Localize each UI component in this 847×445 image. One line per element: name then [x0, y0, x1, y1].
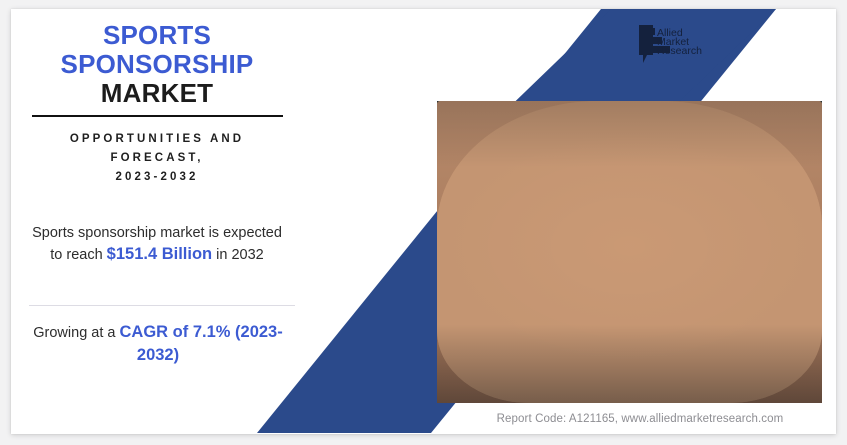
photo-color-grade [437, 101, 822, 403]
subtitle-line-1: OPPORTUNITIES AND [11, 130, 303, 149]
left-text-column: SPORTS SPONSORSHIP MARKET OPPORTUNITIES … [11, 9, 311, 434]
stat-divider [29, 305, 295, 306]
logo-line-3: Research [657, 45, 702, 57]
cagr-highlight-value: CAGR of 7.1% (2023-2032) [120, 323, 283, 364]
title-divider [32, 115, 283, 117]
infographic-page: Allied Market Research SPORTS SPONSORSHI… [0, 0, 847, 445]
page-title: SPORTS SPONSORSHIP MARKET [11, 21, 303, 108]
title-line-2: SPONSORSHIP [11, 50, 303, 79]
stadium-crowd-photo [437, 101, 822, 403]
stat-highlight-value: $151.4 Billion [107, 245, 212, 263]
subtitle-line-2: FORECAST, [11, 149, 303, 168]
market-value-statement: Sports sponsorship market is expected to… [29, 223, 285, 266]
cagr-statement: Growing at a CAGR of 7.1% (2023-2032) [25, 321, 291, 367]
title-line-1: SPORTS [11, 21, 303, 50]
subtitle: OPPORTUNITIES AND FORECAST, 2023-2032 [11, 130, 303, 187]
allied-market-research-logo[interactable]: Allied Market Research [637, 23, 715, 71]
title-line-3: MARKET [11, 79, 303, 108]
infographic-card: Allied Market Research SPORTS SPONSORSHI… [11, 9, 836, 434]
stat-suffix: in 2032 [212, 247, 264, 263]
subtitle-line-3: 2023-2032 [11, 168, 303, 187]
report-code-footer: Report Code: A121165, www.alliedmarketre… [451, 413, 829, 425]
cagr-prefix: Growing at a [33, 325, 119, 341]
